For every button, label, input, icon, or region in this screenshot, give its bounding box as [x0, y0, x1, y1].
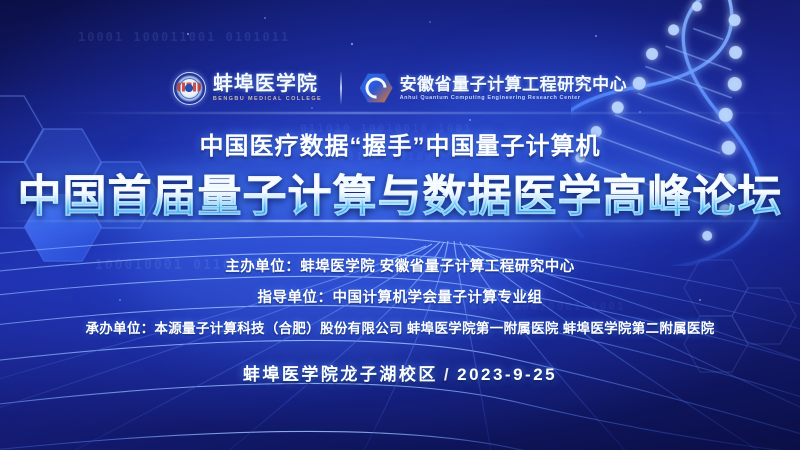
poster-subtitle: 中国医疗数据“握手”中国量子计算机	[0, 126, 800, 161]
event-date: 2023-9-25	[457, 365, 557, 384]
guidance-line: 指导单位：中国计算机学会量子计算专业组	[0, 286, 800, 307]
logo-name-cn: 蚌埠医学院	[213, 74, 322, 94]
circular-school-crest-icon	[173, 72, 206, 105]
logo-name-en: Anhui Quantum Computing Engineering Rese…	[400, 95, 628, 101]
logo-name-en: BENGBU MEDICAL COLLEGE	[213, 96, 322, 102]
conference-poster: 10001 100011001 0101011 011010 10010010 …	[0, 0, 800, 450]
venue-date-separator: /	[438, 365, 457, 384]
organizer-line: 主办单位：蚌埠医学院 安徽省量子计算工程研究中心	[0, 255, 800, 276]
logo-name-cn: 安徽省量子计算工程研究中心	[400, 76, 628, 93]
poster-main-title: 中国首届量子计算与数据医学高峰论坛	[0, 173, 800, 221]
venue-text: 蚌埠医学院龙子湖校区	[243, 365, 438, 384]
hexagon-quantum-icon	[360, 73, 393, 103]
logo-divider	[340, 71, 342, 105]
venue-date-line: 蚌埠医学院龙子湖校区/2023-9-25	[0, 360, 800, 385]
logo-header: 蚌埠医学院 BENGBU MEDICAL COLLEGE 安徽省量子计算工程研究…	[0, 62, 800, 114]
executor-line: 承办单位：本源量子计算科技（合肥）股份有限公司 蚌埠医学院第一附属医院 蚌埠医学…	[0, 317, 800, 337]
logo-anhui-quantum-center: 安徽省量子计算工程研究中心 Anhui Quantum Computing En…	[360, 73, 628, 103]
organization-block: 主办单位：蚌埠医学院 安徽省量子计算工程研究中心 指导单位：中国计算机学会量子计…	[0, 255, 800, 337]
binary-text: 10001 100011001 0101011	[78, 30, 290, 44]
logo-bengbu-medical-college: 蚌埠医学院 BENGBU MEDICAL COLLEGE	[173, 72, 322, 105]
crest-center-icon	[182, 81, 197, 96]
